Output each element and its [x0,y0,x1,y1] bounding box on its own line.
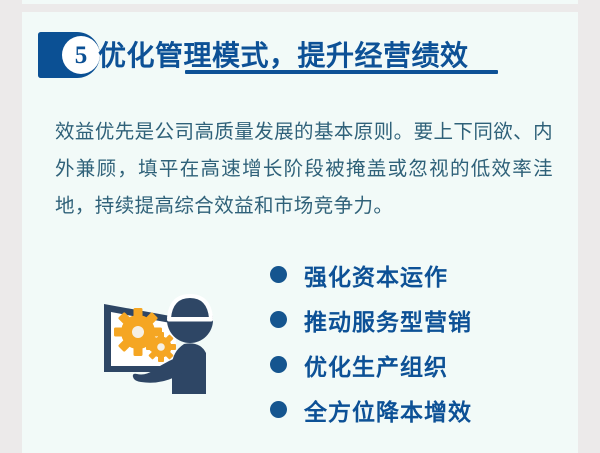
bullet-dot-icon [270,401,287,418]
bullet-label: 优化生产组织 [304,348,448,382]
list-item: 优化生产组织 [270,342,570,387]
slide-page: 5 优化管理模式，提升经营绩效 效益优先是公司高质量发展的基本原则。要上下同欲、… [0,0,600,453]
bullet-label: 推动服务型营销 [304,303,472,337]
bullet-list: 强化资本运作 推动服务型营销 优化生产组织 全方位降本增效 [270,252,570,432]
slide-header: 5 优化管理模式，提升经营绩效 [22,12,578,98]
section-number-badge: 5 [38,32,100,78]
bullet-label: 全方位降本增效 [304,393,472,427]
list-item: 全方位降本增效 [270,387,570,432]
bullet-label: 强化资本运作 [304,258,448,292]
title-underline [185,70,498,74]
slide-card: 5 优化管理模式，提升经营绩效 效益优先是公司高质量发展的基本原则。要上下同欲、… [22,12,578,453]
body-paragraph: 效益优先是公司高质量发展的基本原则。要上下同欲、内外兼顾，填平在高速增长阶段被掩… [55,114,553,225]
list-item: 强化资本运作 [270,252,570,297]
previous-card-sliver [22,0,578,4]
list-item: 推动服务型营销 [270,297,570,342]
bullet-dot-icon [270,356,287,373]
bullet-dot-icon [270,311,287,328]
section-number-text: 5 [75,43,88,68]
page-title: 优化管理模式，提升经营绩效 [98,34,469,74]
bullet-dot-icon [270,266,287,283]
section-number-circle: 5 [62,36,100,74]
worker-gears-screen-icon [98,284,228,394]
